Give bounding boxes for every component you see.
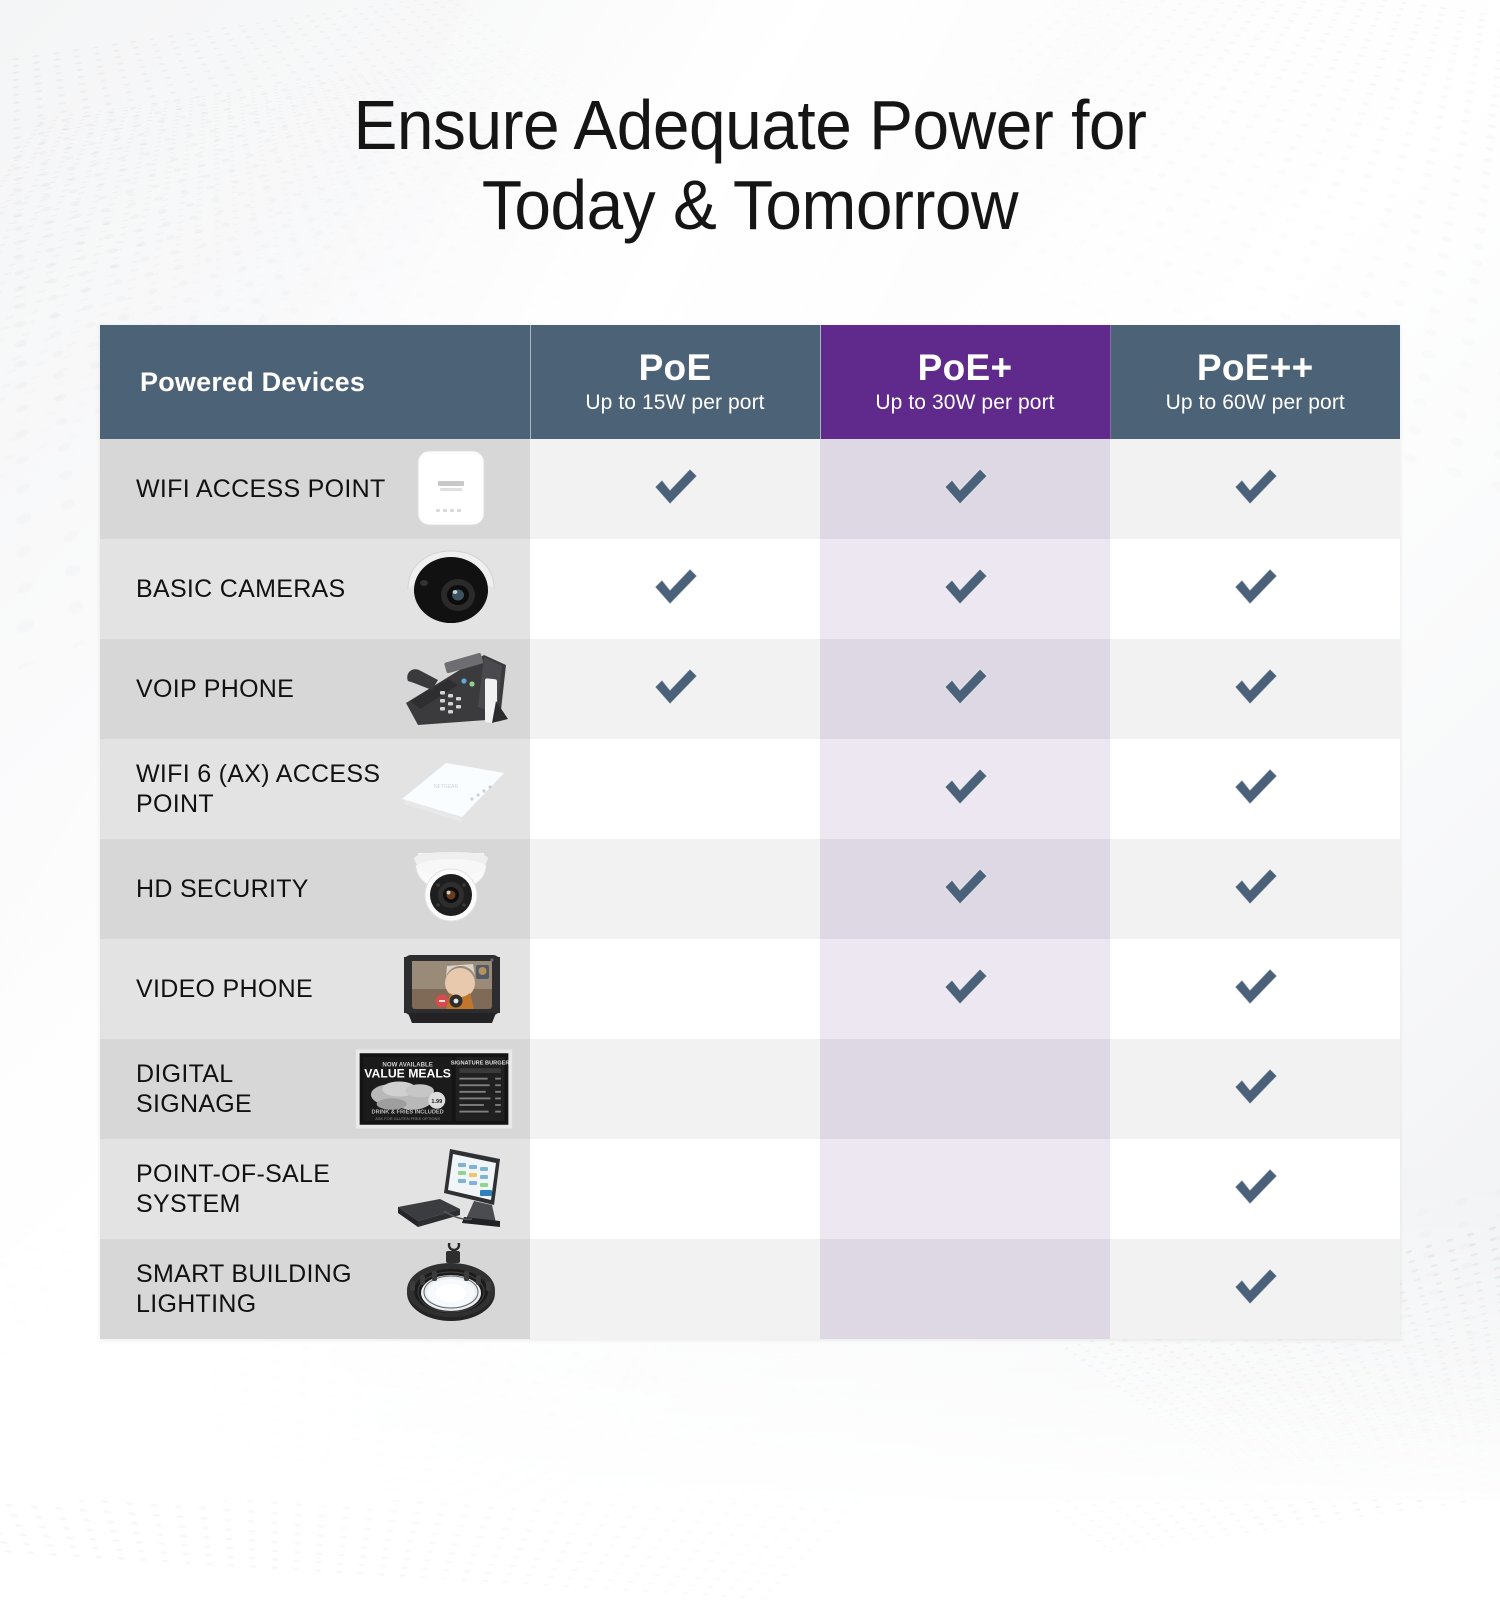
support-check-cell	[820, 739, 1110, 839]
support-check-cell	[820, 839, 1110, 939]
support-check-cell	[530, 639, 820, 739]
column-subtitle-poe: Up to 15W per port	[531, 391, 820, 415]
support-empty-cell	[820, 1239, 1110, 1339]
no-support-placeholder	[649, 1161, 701, 1213]
support-check-cell	[1110, 739, 1400, 839]
no-support-placeholder	[649, 861, 701, 913]
checkmark-icon	[939, 461, 991, 513]
voip-desk-phone-thumb	[388, 643, 514, 735]
device-label-cell: SMART BUILDING LIGHTING	[100, 1239, 530, 1339]
column-title-poe-plus: PoE+	[821, 349, 1110, 388]
support-check-cell	[1110, 639, 1400, 739]
table-row: VIDEO PHONE	[100, 939, 1400, 1039]
column-title-poe-plus-plus: PoE++	[1111, 349, 1401, 388]
table-row: HD SECURITY	[100, 839, 1400, 939]
checkmark-icon	[939, 761, 991, 813]
checkmark-icon	[649, 461, 701, 513]
checkmark-icon	[1229, 761, 1281, 813]
support-check-cell	[820, 639, 1110, 739]
no-support-placeholder	[649, 1061, 701, 1113]
support-check-cell	[1110, 1139, 1400, 1239]
checkmark-icon	[1229, 461, 1281, 513]
column-header-poe-plus: PoE+ Up to 30W per port	[820, 325, 1110, 439]
column-header-poe-plus-plus: PoE++ Up to 60W per port	[1110, 325, 1400, 439]
table-body: WIFI ACCESS POINTBASIC CAMERASVOIP PHONE…	[100, 439, 1400, 1339]
support-empty-cell	[820, 1039, 1110, 1139]
support-check-cell	[820, 439, 1110, 539]
support-check-cell	[530, 539, 820, 639]
support-empty-cell	[530, 1039, 820, 1139]
checkmark-icon	[939, 861, 991, 913]
checkmark-icon	[939, 561, 991, 613]
wifi6-access-point-thumb	[388, 743, 514, 835]
device-name: BASIC CAMERAS	[136, 574, 346, 605]
device-label-cell: VOIP PHONE	[100, 639, 530, 739]
table-header: Powered Devices PoE Up to 15W per port P…	[100, 325, 1400, 439]
support-empty-cell	[530, 1239, 820, 1339]
device-label-cell: VIDEO PHONE	[100, 939, 530, 1039]
support-empty-cell	[820, 1139, 1110, 1239]
table-row: BASIC CAMERAS	[100, 539, 1400, 639]
support-check-cell	[1110, 1039, 1400, 1139]
device-label-cell: WIFI 6 (AX) ACCESS POINT	[100, 739, 530, 839]
no-support-placeholder	[649, 1261, 701, 1313]
video-phone-thumb	[388, 943, 514, 1035]
support-check-cell	[1110, 939, 1400, 1039]
support-empty-cell	[530, 1139, 820, 1239]
title-line-2: Today & Tomorrow	[45, 166, 1455, 246]
table-row: WIFI 6 (AX) ACCESS POINT	[100, 739, 1400, 839]
support-check-cell	[530, 439, 820, 539]
device-label-cell: POINT-OF-SALE SYSTEM	[100, 1139, 530, 1239]
checkmark-icon	[1229, 1261, 1281, 1313]
dome-camera-thumb	[388, 543, 514, 635]
point-of-sale-thumb	[388, 1143, 514, 1235]
device-label-cell: BASIC CAMERAS	[100, 539, 530, 639]
no-support-placeholder	[649, 761, 701, 813]
support-check-cell	[1110, 839, 1400, 939]
table-row: WIFI ACCESS POINT	[100, 439, 1400, 539]
checkmark-icon	[1229, 961, 1281, 1013]
checkmark-icon	[649, 661, 701, 713]
column-subtitle-poe-plus-plus: Up to 60W per port	[1111, 391, 1401, 415]
support-empty-cell	[530, 939, 820, 1039]
high-bay-light-thumb	[388, 1243, 514, 1335]
checkmark-icon	[939, 961, 991, 1013]
device-name: VOIP PHONE	[136, 674, 294, 705]
device-name: DIGITAL SIGNAGE	[136, 1059, 354, 1120]
page-title: Ensure Adequate Power for Today & Tomorr…	[0, 86, 1500, 246]
table-row: SMART BUILDING LIGHTING	[100, 1239, 1400, 1339]
table-header-row: Powered Devices PoE Up to 15W per port P…	[100, 325, 1400, 439]
no-support-placeholder	[939, 1261, 991, 1313]
support-check-cell	[820, 939, 1110, 1039]
checkmark-icon	[939, 661, 991, 713]
no-support-placeholder	[939, 1061, 991, 1113]
table-row: POINT-OF-SALE SYSTEM	[100, 1139, 1400, 1239]
column-title-poe: PoE	[531, 349, 820, 388]
device-name: WIFI 6 (AX) ACCESS POINT	[136, 759, 386, 820]
device-name: WIFI ACCESS POINT	[136, 474, 386, 505]
checkmark-icon	[1229, 1161, 1281, 1213]
no-support-placeholder	[939, 1161, 991, 1213]
checkmark-icon	[1229, 661, 1281, 713]
digital-signage-thumb	[354, 1043, 514, 1135]
column-header-poe: PoE Up to 15W per port	[530, 325, 820, 439]
column-header-powered-devices: Powered Devices	[100, 325, 530, 439]
poe-comparison-table: Powered Devices PoE Up to 15W per port P…	[100, 325, 1400, 1339]
device-name: SMART BUILDING LIGHTING	[136, 1259, 386, 1320]
checkmark-icon	[1229, 1061, 1281, 1113]
no-support-placeholder	[649, 961, 701, 1013]
device-label-cell: WIFI ACCESS POINT	[100, 439, 530, 539]
support-check-cell	[1110, 439, 1400, 539]
device-label-cell: DIGITAL SIGNAGE	[100, 1039, 530, 1139]
column-subtitle-poe-plus: Up to 30W per port	[821, 391, 1110, 415]
checkmark-icon	[1229, 561, 1281, 613]
support-empty-cell	[530, 739, 820, 839]
support-check-cell	[1110, 1239, 1400, 1339]
table-row: DIGITAL SIGNAGE	[100, 1039, 1400, 1139]
support-check-cell	[1110, 539, 1400, 639]
device-label-cell: HD SECURITY	[100, 839, 530, 939]
device-name: VIDEO PHONE	[136, 974, 313, 1005]
support-empty-cell	[530, 839, 820, 939]
turret-camera-thumb	[388, 843, 514, 935]
checkmark-icon	[649, 561, 701, 613]
title-line-1: Ensure Adequate Power for	[45, 86, 1455, 166]
checkmark-icon	[1229, 861, 1281, 913]
device-name: HD SECURITY	[136, 874, 309, 905]
table-row: VOIP PHONE	[100, 639, 1400, 739]
device-name: POINT-OF-SALE SYSTEM	[136, 1159, 386, 1220]
wifi-access-point-thumb	[388, 443, 514, 535]
support-check-cell	[820, 539, 1110, 639]
